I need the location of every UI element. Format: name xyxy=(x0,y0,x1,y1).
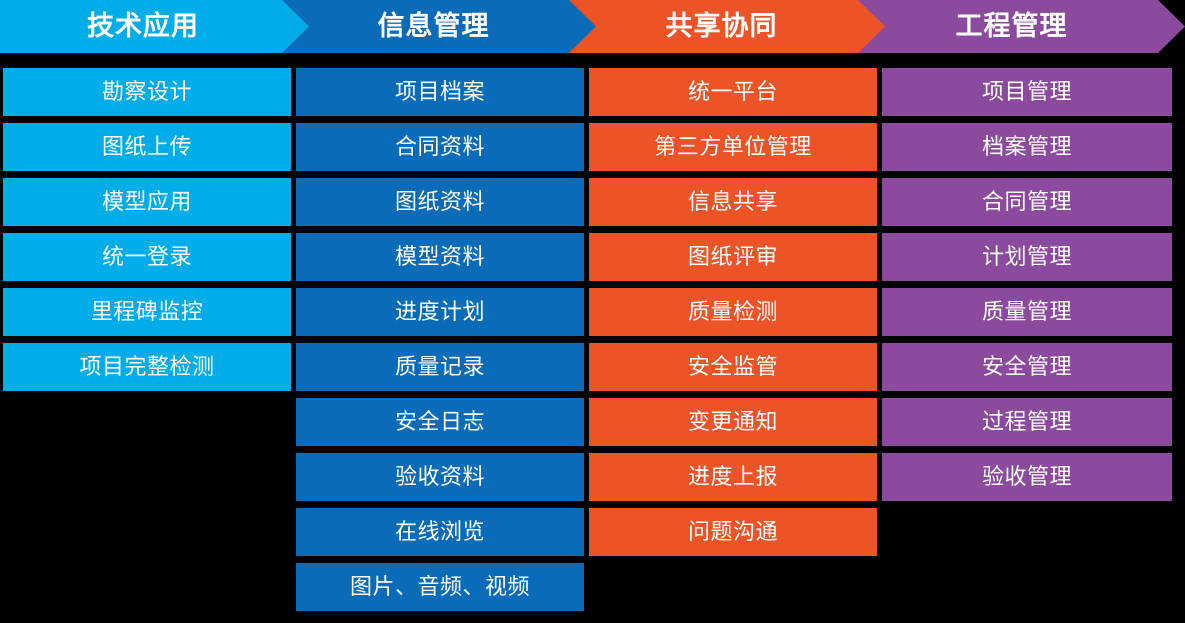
cell-label: 里程碑监控 xyxy=(91,301,204,323)
cell-item[interactable]: 变更通知 xyxy=(589,398,877,446)
header-label-information: 信息管理 xyxy=(276,13,591,40)
cell-item[interactable]: 第三方单位管理 xyxy=(589,123,877,171)
cell-item[interactable]: 勘察设计 xyxy=(3,68,291,116)
cell-label: 质量记录 xyxy=(395,356,485,378)
cell-item[interactable]: 安全管理 xyxy=(882,343,1172,391)
cell-label: 进度计划 xyxy=(395,301,485,323)
cell-item[interactable]: 图纸资料 xyxy=(296,178,584,226)
cell-item[interactable]: 过程管理 xyxy=(882,398,1172,446)
cell-label: 安全日志 xyxy=(395,411,485,433)
header-label-engineering: 工程管理 xyxy=(848,13,1175,40)
cell-item[interactable]: 计划管理 xyxy=(882,233,1172,281)
cell-label: 问题沟通 xyxy=(688,521,778,543)
cell-item[interactable]: 图纸上传 xyxy=(3,123,291,171)
column-technology: 勘察设计 图纸上传 模型应用 统一登录 里程碑监控 项目完整检测 xyxy=(3,68,291,398)
cell-item[interactable]: 模型应用 xyxy=(3,178,291,226)
cell-item[interactable]: 项目管理 xyxy=(882,68,1172,116)
cell-item[interactable]: 质量管理 xyxy=(882,288,1172,336)
header-chevron-collaboration[interactable]: 共享协同 xyxy=(569,0,886,53)
cell-label: 信息共享 xyxy=(688,191,778,213)
cell-label: 项目档案 xyxy=(395,81,485,103)
column-collaboration: 统一平台 第三方单位管理 信息共享 图纸评审 质量检测 安全监管 变更通知 进度… xyxy=(589,68,877,563)
cell-label: 图片、音频、视频 xyxy=(350,576,530,598)
cell-label: 计划管理 xyxy=(982,246,1072,268)
cell-item[interactable]: 统一登录 xyxy=(3,233,291,281)
cell-item[interactable]: 安全日志 xyxy=(296,398,584,446)
cell-item[interactable]: 进度上报 xyxy=(589,453,877,501)
cell-label: 模型应用 xyxy=(102,191,192,213)
cell-item[interactable]: 质量检测 xyxy=(589,288,877,336)
cell-label: 过程管理 xyxy=(982,411,1072,433)
cell-label: 项目完整检测 xyxy=(79,356,214,378)
cell-label: 验收资料 xyxy=(395,466,485,488)
cell-item[interactable]: 图纸评审 xyxy=(589,233,877,281)
cell-item[interactable]: 问题沟通 xyxy=(589,508,877,556)
header-chevron-banner: 技术应用 信息管理 共享协同 工程管理 xyxy=(0,0,1185,53)
cell-item[interactable]: 项目档案 xyxy=(296,68,584,116)
cell-label: 图纸上传 xyxy=(102,136,192,158)
header-chevron-engineering[interactable]: 工程管理 xyxy=(858,0,1185,53)
cell-item[interactable]: 在线浏览 xyxy=(296,508,584,556)
cell-item[interactable]: 质量记录 xyxy=(296,343,584,391)
cell-label: 模型资料 xyxy=(395,246,485,268)
cell-label: 档案管理 xyxy=(982,136,1072,158)
cell-item[interactable]: 里程碑监控 xyxy=(3,288,291,336)
header-label-collaboration: 共享协同 xyxy=(563,13,880,40)
cell-label: 勘察设计 xyxy=(102,81,192,103)
cell-label: 在线浏览 xyxy=(395,521,485,543)
cell-item[interactable]: 安全监管 xyxy=(589,343,877,391)
cell-label: 第三方单位管理 xyxy=(654,136,812,158)
cell-label: 验收管理 xyxy=(982,466,1072,488)
cell-item[interactable]: 统一平台 xyxy=(589,68,877,116)
cell-item[interactable]: 合同管理 xyxy=(882,178,1172,226)
cell-item[interactable]: 信息共享 xyxy=(589,178,877,226)
cell-label: 质量管理 xyxy=(982,301,1072,323)
header-chevron-information[interactable]: 信息管理 xyxy=(282,0,597,53)
cell-label: 项目管理 xyxy=(982,81,1072,103)
cell-item[interactable]: 模型资料 xyxy=(296,233,584,281)
cell-item[interactable]: 合同资料 xyxy=(296,123,584,171)
column-information: 项目档案 合同资料 图纸资料 模型资料 进度计划 质量记录 安全日志 验收资料 xyxy=(296,68,584,618)
cell-label: 合同资料 xyxy=(395,136,485,158)
cell-label: 质量检测 xyxy=(688,301,778,323)
header-label-technology: 技术应用 xyxy=(0,13,298,40)
columns-container: 勘察设计 图纸上传 模型应用 统一登录 里程碑监控 项目完整检测 项目档案 xyxy=(0,68,1185,620)
cell-label: 安全监管 xyxy=(688,356,778,378)
header-chevron-technology[interactable]: 技术应用 xyxy=(0,0,310,53)
cell-label: 图纸资料 xyxy=(395,191,485,213)
cell-item[interactable]: 档案管理 xyxy=(882,123,1172,171)
cell-item[interactable]: 验收资料 xyxy=(296,453,584,501)
column-engineering: 项目管理 档案管理 合同管理 计划管理 质量管理 安全管理 过程管理 验收管理 xyxy=(882,68,1172,508)
cell-label: 统一平台 xyxy=(688,81,778,103)
diagram-canvas: 技术应用 信息管理 共享协同 工程管理 勘察设计 xyxy=(0,0,1185,623)
cell-label: 安全管理 xyxy=(982,356,1072,378)
cell-label: 统一登录 xyxy=(102,246,192,268)
cell-label: 合同管理 xyxy=(982,191,1072,213)
cell-label: 变更通知 xyxy=(688,411,778,433)
cell-item[interactable]: 图片、音频、视频 xyxy=(296,563,584,611)
cell-label: 图纸评审 xyxy=(688,246,778,268)
cell-label: 进度上报 xyxy=(688,466,778,488)
cell-item[interactable]: 进度计划 xyxy=(296,288,584,336)
cell-item[interactable]: 验收管理 xyxy=(882,453,1172,501)
cell-item[interactable]: 项目完整检测 xyxy=(3,343,291,391)
